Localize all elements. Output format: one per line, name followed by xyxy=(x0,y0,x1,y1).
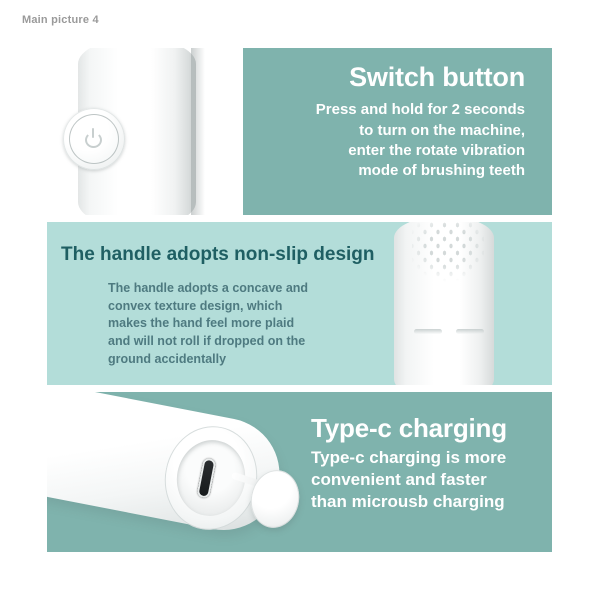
body-line: mode of brushing teeth xyxy=(235,161,525,181)
type-c-charging-text-block: Type-c charging Type-c charging is more … xyxy=(311,414,551,512)
body-line: The handle adopts a concave and xyxy=(108,280,391,298)
body-line: enter the rotate vibration xyxy=(235,141,525,161)
non-slip-handle-photo xyxy=(388,222,500,385)
body-line: convex texture design, which xyxy=(108,298,391,316)
power-button-icon xyxy=(69,114,119,164)
body-line: ground accidentally xyxy=(108,351,391,369)
panel-type-c-charging: Type-c charging Type-c charging is more … xyxy=(47,392,552,552)
non-slip-handle-text-block: The handle adopts non-slip design The ha… xyxy=(61,244,391,369)
switch-button-text-block: Switch button Press and hold for 2 secon… xyxy=(235,62,525,182)
body-line: Press and hold for 2 seconds xyxy=(235,100,525,120)
body-line: Type-c charging is more xyxy=(311,447,551,469)
panel-switch-button: Switch button Press and hold for 2 secon… xyxy=(47,48,552,215)
body-line: and will not roll if dropped on the xyxy=(108,333,391,351)
panel-type-c-charging-title: Type-c charging xyxy=(311,414,551,443)
body-line: convenient and faster xyxy=(311,469,551,491)
grip-handle-body xyxy=(394,222,494,385)
panel-switch-button-body: Press and hold for 2 seconds to turn on … xyxy=(235,100,525,182)
body-line: to turn on the machine, xyxy=(235,121,525,141)
body-line: makes the hand feel more plaid xyxy=(108,315,391,333)
power-symbol-icon xyxy=(85,129,104,148)
switch-button-photo xyxy=(47,48,243,215)
handle-edge-shadow xyxy=(191,48,205,215)
panel-non-slip-handle: The handle adopts non-slip design The ha… xyxy=(47,222,552,385)
usb-c-port-icon xyxy=(196,457,216,499)
panel-switch-button-title: Switch button xyxy=(235,62,525,92)
panel-type-c-charging-body: Type-c charging is more convenient and f… xyxy=(311,447,551,512)
grip-indent-right xyxy=(456,329,484,334)
page-caption: Main picture 4 xyxy=(22,14,99,26)
body-line: than microusb charging xyxy=(311,491,551,513)
panel-non-slip-handle-body: The handle adopts a concave and convex t… xyxy=(108,280,391,369)
power-button-bezel xyxy=(63,108,125,170)
grip-texture-icon xyxy=(412,222,484,284)
grip-indent-left xyxy=(414,329,442,334)
panel-non-slip-handle-title: The handle adopts non-slip design xyxy=(61,244,391,266)
type-c-charging-photo xyxy=(47,392,322,552)
